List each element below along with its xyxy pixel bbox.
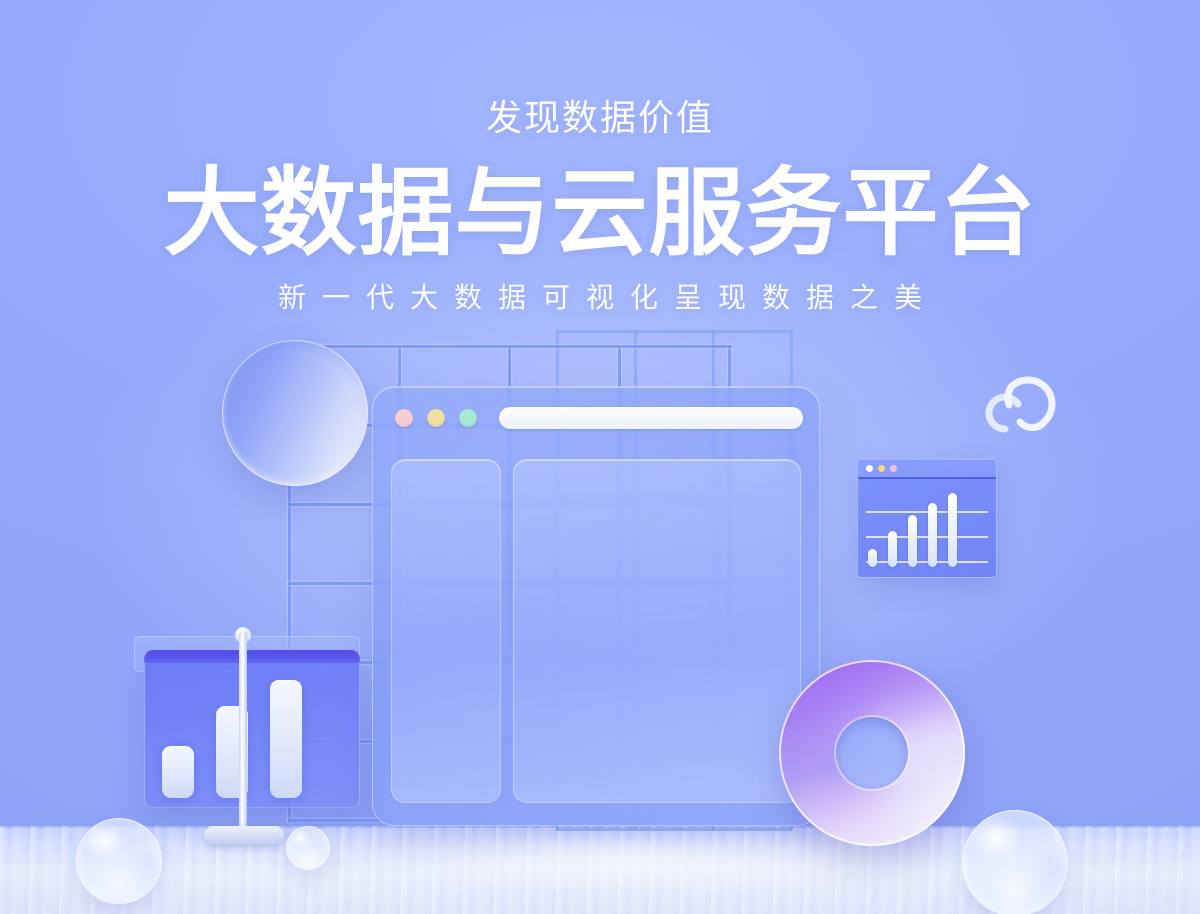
close-dot[interactable] — [866, 465, 873, 472]
card-bar-series — [162, 680, 342, 798]
headline-block: 发现数据价值 大数据与云服务平台 新一代大数据可视化呈现数据之美 — [0, 0, 1200, 316]
chart-bar — [888, 531, 897, 567]
browser-title-bar — [373, 387, 819, 449]
card-accent-bar — [144, 650, 360, 663]
grid-line — [288, 345, 732, 348]
maximize-dot[interactable] — [459, 409, 477, 427]
address-bar-input[interactable] — [499, 407, 803, 429]
chart-bar — [868, 549, 877, 567]
bar-chart-card[interactable] — [134, 636, 360, 808]
grid-line — [556, 828, 792, 831]
minimize-dot[interactable] — [878, 465, 885, 472]
mini-title-bar — [858, 459, 996, 479]
minimize-dot[interactable] — [427, 409, 445, 427]
glass-sphere-mid — [286, 826, 330, 870]
browser-mockup[interactable] — [372, 386, 820, 826]
eyebrow-text: 发现数据价值 — [0, 96, 1200, 140]
chart-bar — [948, 493, 957, 567]
chart-bar — [908, 515, 917, 567]
maximize-dot[interactable] — [890, 465, 897, 472]
gradient-torus-rim — [779, 660, 965, 846]
grid-line — [556, 330, 792, 333]
chart-bar — [162, 746, 194, 798]
glass-disc-rim — [222, 340, 368, 486]
stand-base — [204, 826, 284, 844]
page-title: 大数据与云服务平台 — [0, 164, 1200, 264]
chart-bar — [928, 503, 937, 567]
mini-chart-body — [858, 481, 996, 577]
subtitle-text: 新一代大数据可视化呈现数据之美 — [0, 280, 1200, 316]
hero-banner: 发现数据价值 大数据与云服务平台 新一代大数据可视化呈现数据之美 — [0, 0, 1200, 914]
close-dot[interactable] — [395, 409, 413, 427]
stand-pole — [239, 631, 247, 835]
sidebar-pane[interactable] — [391, 459, 501, 803]
chart-bar — [270, 680, 302, 798]
floor-highlight — [300, 836, 1020, 892]
cloud-icon — [975, 365, 1065, 437]
glass-sphere-right — [962, 810, 1068, 914]
mini-chart-window[interactable] — [857, 458, 997, 578]
content-pane[interactable] — [513, 459, 801, 803]
mini-bar-series — [868, 487, 988, 567]
glass-sphere-left — [76, 818, 162, 904]
